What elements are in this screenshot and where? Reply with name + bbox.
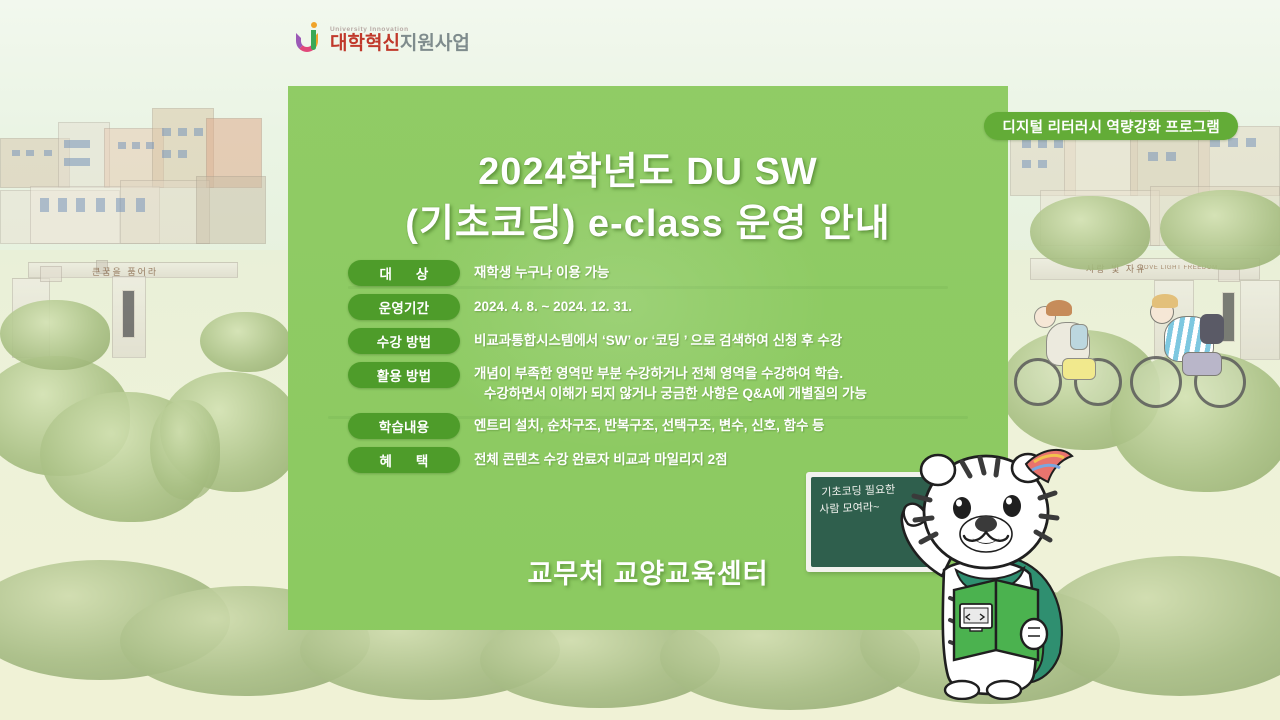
poster-title: 2024학년도 DU SW (기초코딩) e-class 운영 안내 (288, 146, 1008, 250)
university-innovation-logo: University Innovation 대학혁신지원사업 (296, 18, 470, 54)
computer-monitor-icon (960, 604, 992, 631)
footer-organization: 교무처 교양교육센터 (527, 559, 768, 589)
info-label-target: 대 상 (380, 263, 429, 283)
info-value-period: 2024. 4. 8. ~ 2024. 12. 31. (474, 294, 632, 317)
info-value-usage-method: 개념이 부족한 영역만 부분 수강하거나 전체 영역을 수강하여 학습. 수강하… (474, 362, 867, 404)
info-value-usage-method-line1: 개념이 부족한 영역만 부분 수강하거나 전체 영역을 수강하여 학습. (474, 366, 843, 381)
info-row-enrollment-method: 수강 방법 비교과통합시스템에서 ‘SW’ or ‘코딩 ’ 으로 검색하여 신… (348, 328, 968, 354)
logo-subtitle: University Innovation (330, 26, 470, 33)
info-label-curriculum: 학습내용 (379, 416, 429, 436)
info-label-pill-enrollment-method: 수강 방법 (348, 328, 460, 354)
info-label-pill-benefit: 혜 택 (348, 447, 460, 473)
info-table: 대 상 재학생 누구나 이용 가능 운영기간 2024. 4. 8. ~ 202… (348, 260, 968, 481)
logo-name-part-b: 지원사업 (400, 33, 470, 54)
white-tiger-mascot (900, 438, 1090, 700)
info-label-pill-target: 대 상 (348, 260, 460, 286)
u-mark-logo-icon (296, 22, 326, 54)
logo-name-part-a: 대학혁신 (330, 33, 400, 54)
program-badge-label: 디지털 리터러시 역량강화 프로그램 (1002, 116, 1220, 137)
title-line-1: 2024학년도 DU SW (288, 146, 1008, 198)
info-label-period: 운영기간 (379, 297, 429, 317)
info-value-target: 재학생 누구나 이용 가능 (474, 260, 609, 283)
info-label-benefit: 혜 택 (380, 450, 429, 470)
info-label-pill-usage-method: 활용 방법 (348, 362, 460, 388)
info-row-curriculum: 학습내용 엔트리 설치, 순차구조, 반복구조, 선택구조, 변수, 신호, 함… (348, 413, 968, 439)
info-row-period: 운영기간 2024. 4. 8. ~ 2024. 12. 31. (348, 294, 968, 320)
cyclist-right-figure (1128, 296, 1258, 412)
info-row-target: 대 상 재학생 누구나 이용 가능 (348, 260, 968, 286)
info-label-enrollment-method: 수강 방법 (377, 331, 431, 351)
info-label-pill-curriculum: 학습내용 (348, 413, 460, 439)
info-row-benefit: 혜 택 전체 콘텐츠 수강 완료자 비교과 마일리지 2점 (348, 447, 968, 473)
poster-canvas: 큰꿈을 품어라 사랑 빛 자유 LOVE LIGHT FREEDOM (0, 0, 1280, 720)
info-label-pill-period: 운영기간 (348, 294, 460, 320)
info-label-usage-method: 활용 방법 (377, 365, 431, 385)
title-line-2: (기초코딩) e-class 운영 안내 (288, 198, 1008, 250)
cyclist-left-figure (1012, 300, 1132, 410)
info-row-usage-method: 활용 방법 개념이 부족한 영역만 부분 수강하거나 전체 영역을 수강하여 학… (348, 362, 968, 404)
program-badge: 디지털 리터러시 역량강화 프로그램 (984, 112, 1238, 140)
info-value-enrollment-method: 비교과통합시스템에서 ‘SW’ or ‘코딩 ’ 으로 검색하여 신청 후 수강 (474, 328, 842, 351)
info-value-usage-method-line2: 수강하면서 이해가 되지 않거나 궁금한 사항은 Q&A에 개별질의 가능 (484, 384, 867, 404)
info-value-benefit: 전체 콘텐츠 수강 완료자 비교과 마일리지 2점 (474, 447, 728, 470)
info-value-curriculum: 엔트리 설치, 순차구조, 반복구조, 선택구조, 변수, 신호, 함수 등 (474, 413, 825, 436)
